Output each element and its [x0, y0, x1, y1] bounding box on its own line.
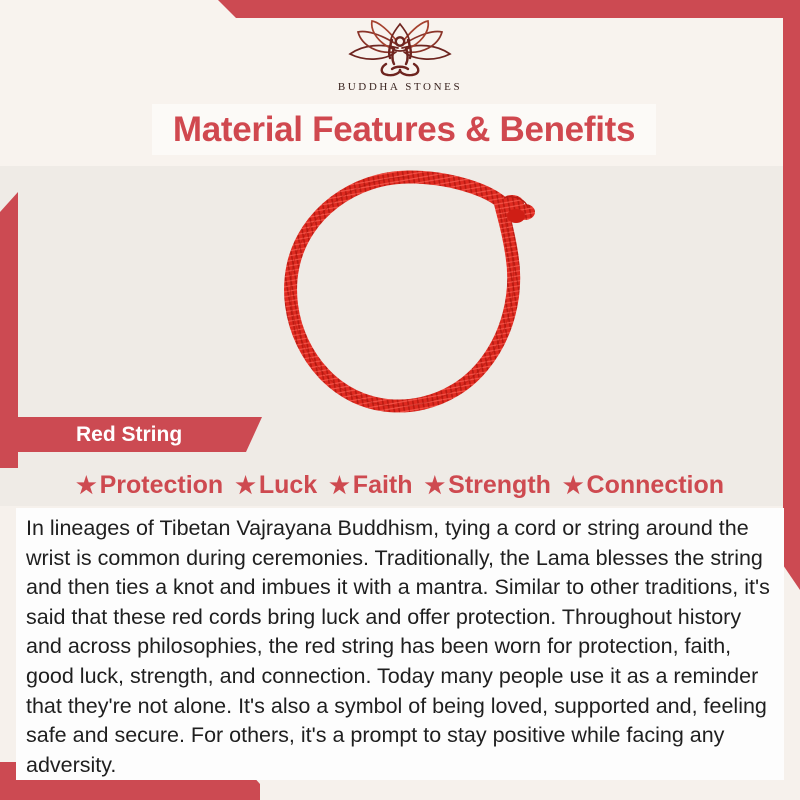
lotus-meditation-icon [336, 18, 464, 80]
benefit-label: Luck [259, 471, 317, 500]
description-panel: In lineages of Tibetan Vajrayana Buddhis… [16, 508, 784, 780]
benefit-item-luck: ★ Luck [235, 471, 317, 500]
benefit-item-protection: ★ Protection [76, 471, 223, 500]
benefits-row: ★ Protection ★ Luck ★ Faith ★ Strength ★… [0, 466, 800, 504]
benefit-item-strength: ★ Strength [425, 471, 551, 500]
title-banner: Material Features & Benefits [152, 104, 656, 155]
star-icon: ★ [76, 474, 97, 497]
benefit-label: Strength [448, 471, 551, 500]
star-icon: ★ [329, 474, 350, 497]
material-label: Red String [76, 423, 182, 447]
brand-logo: BUDDHA STONES [0, 18, 800, 100]
benefit-label: Connection [587, 471, 725, 500]
product-image-red-string-bracelet [246, 168, 572, 418]
decorative-strip-left [0, 192, 18, 468]
benefit-label: Faith [353, 471, 413, 500]
material-label-banner: Red String [18, 417, 262, 452]
star-icon: ★ [563, 474, 584, 497]
description-text: In lineages of Tibetan Vajrayana Buddhis… [16, 508, 784, 780]
page-title: Material Features & Benefits [173, 110, 635, 150]
star-icon: ★ [425, 474, 446, 497]
benefit-label: Protection [100, 471, 224, 500]
infographic-page: BUDDHA STONES Material Features & Benefi… [0, 0, 800, 800]
benefit-item-faith: ★ Faith [329, 471, 412, 500]
benefit-item-connection: ★ Connection [563, 471, 724, 500]
star-icon: ★ [235, 474, 256, 497]
brand-name: BUDDHA STONES [338, 81, 462, 93]
